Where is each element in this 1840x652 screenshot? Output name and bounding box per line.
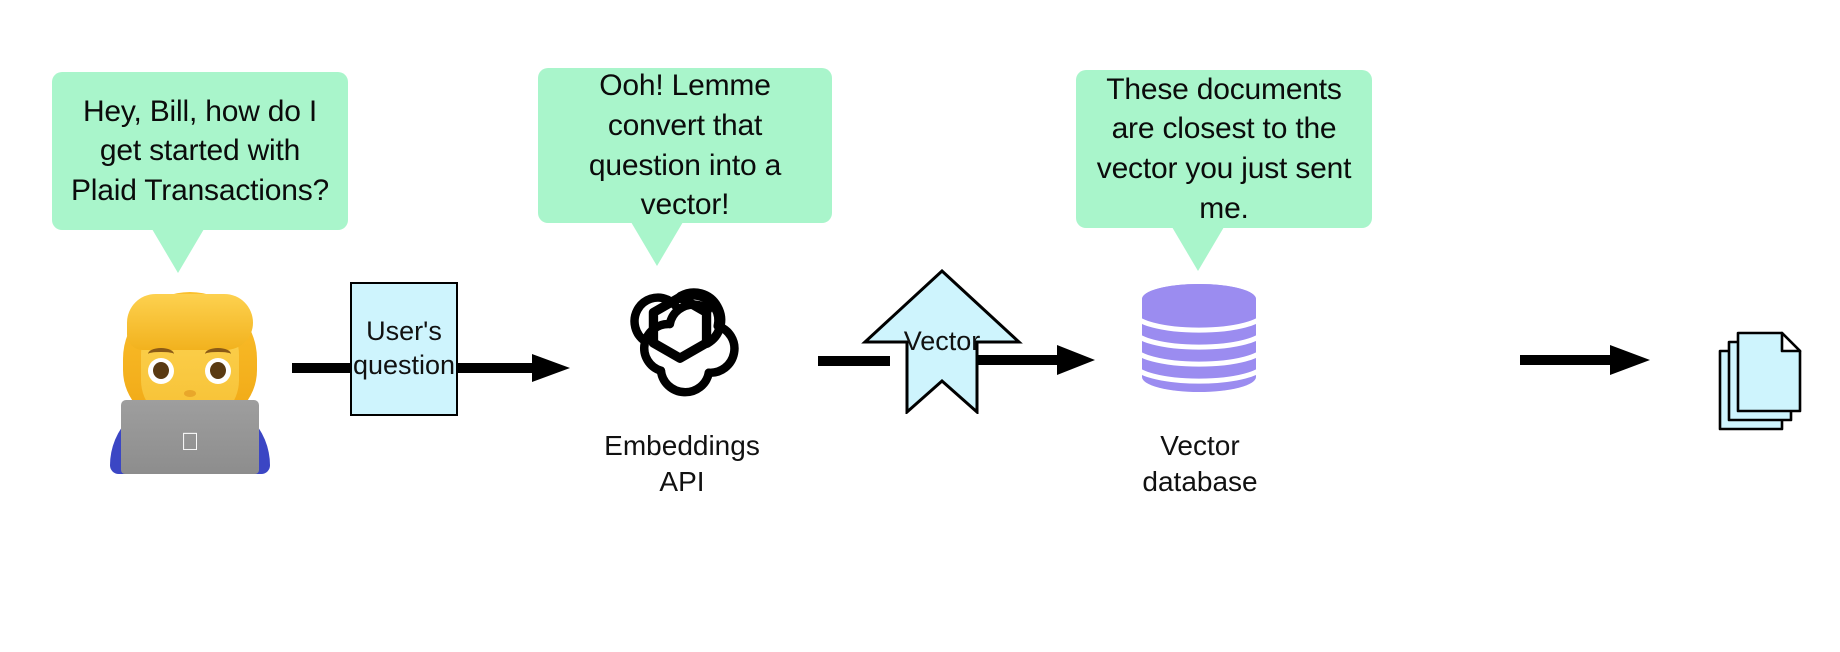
laptop-lid: : [121, 400, 259, 474]
person-eye-right: [205, 358, 231, 384]
vector-database-cylinder-icon: [1140, 283, 1258, 393]
openai-logo-icon: [621, 282, 739, 402]
diagram-canvas: Hey, Bill, how do I get started with Pla…: [0, 0, 1840, 652]
arrow-question-to-embeddings: [458, 350, 570, 386]
arrow-person-to-question: [292, 355, 356, 381]
speech-bubble-tail-user: [152, 229, 204, 273]
woman-technologist-emoji: : [105, 292, 275, 474]
speech-bubble-database: These documents are closest to the vecto…: [1076, 70, 1372, 228]
speech-bubble-embeddings: Ooh! Lemme convert that question into a …: [538, 68, 832, 223]
speech-bubble-user-question: Hey, Bill, how do I get started with Pla…: [52, 72, 348, 230]
apple-logo-icon: : [181, 430, 200, 455]
person-bangs: [127, 294, 253, 350]
speech-bubble-tail-embeddings: [631, 222, 683, 266]
person-nose: [184, 390, 196, 397]
arrow-vector-to-database: [977, 340, 1095, 380]
embeddings-api-caption: Embeddings API: [590, 428, 774, 501]
users-question-box[interactable]: User's question: [350, 282, 458, 416]
documents-stack-icon: [1718, 329, 1818, 431]
vector-database-caption: Vector database: [1105, 428, 1295, 501]
arrow-database-to-documents: [1520, 340, 1650, 380]
speech-bubble-tail-database: [1172, 227, 1224, 271]
users-question-label: User's question: [353, 315, 455, 383]
person-eye-left: [148, 358, 174, 384]
